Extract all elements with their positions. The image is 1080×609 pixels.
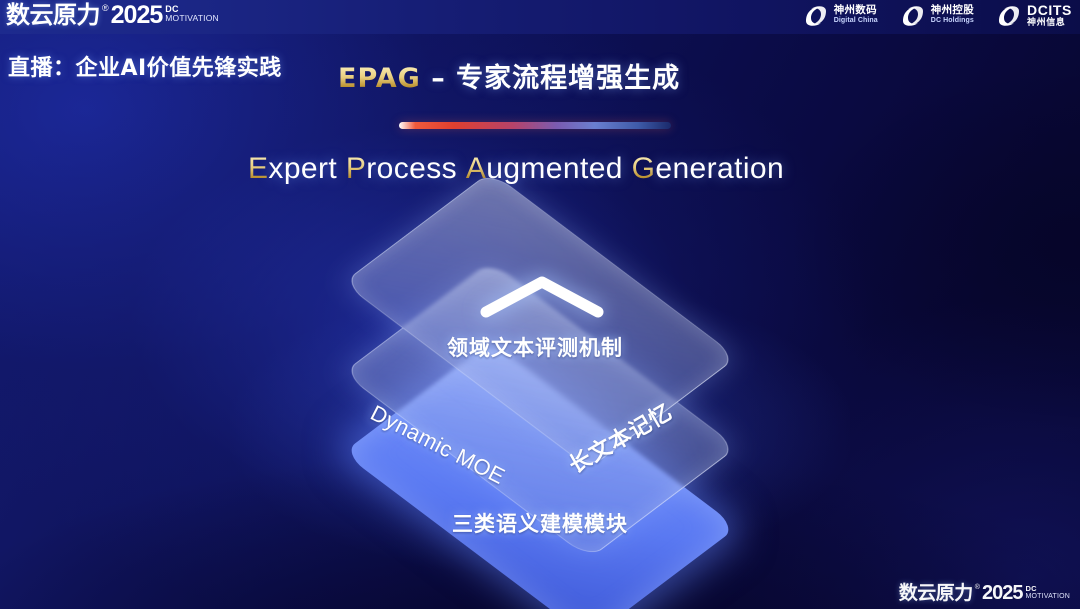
page-title: EPAG – 专家流程增强生成 bbox=[338, 56, 680, 95]
swoosh-logo-icon bbox=[803, 4, 829, 28]
partner-logo-dcits: DCITS 神州信息 bbox=[996, 3, 1072, 28]
partner-label: DCITS 神州信息 bbox=[1027, 3, 1072, 28]
footer-brand-watermark: 数云原力 ® 2025 DC MOTIVATION bbox=[899, 583, 1070, 604]
stack-layer-top-label: 领域文本评测机制 bbox=[447, 332, 623, 362]
partner-label: 神州数码 Digital China bbox=[834, 5, 878, 26]
subtitle-initial-a: A bbox=[466, 152, 486, 185]
title-acronym: EPAG bbox=[338, 63, 421, 94]
page-subtitle: Expert Process Augmented Generation bbox=[248, 152, 784, 186]
live-stream-title: 直播：企业AI价值先锋实践 bbox=[8, 50, 282, 82]
partner-logo-dc-holdings: 神州控股 DC Holdings bbox=[900, 4, 974, 28]
partner-logo-digital-china: 神州数码 Digital China bbox=[803, 4, 878, 28]
footer-brand-tagline: DC MOTIVATION bbox=[1025, 583, 1070, 601]
footer-brand-name-cn: 数云原力 bbox=[899, 583, 973, 604]
gradient-divider bbox=[399, 122, 671, 129]
footer-brand-year: 2025 bbox=[982, 583, 1023, 604]
brand-tagline-line2: MOTIVATION bbox=[165, 14, 219, 23]
partner-name-en: DCITS bbox=[1027, 3, 1072, 17]
brand-registered-mark: ® bbox=[102, 2, 109, 14]
partner-name-en: DC Holdings bbox=[931, 16, 974, 26]
partner-name-cn: 神州信息 bbox=[1027, 18, 1072, 28]
partner-logo-group: 神州数码 Digital China 神州控股 DC Holdings bbox=[803, 3, 1072, 28]
stack-layer-bottom-label: 三类语义建模模块 bbox=[452, 508, 628, 538]
subtitle-word-expert: xpert bbox=[268, 152, 337, 185]
subtitle-initial-g: G bbox=[632, 152, 656, 185]
brand-name-cn: 数云原力 bbox=[6, 2, 100, 28]
partner-name-en: Digital China bbox=[834, 16, 878, 26]
title-separator: – bbox=[431, 63, 446, 94]
subtitle-word-process: rocess bbox=[366, 152, 457, 185]
partner-label: 神州控股 DC Holdings bbox=[931, 5, 974, 26]
swoosh-logo-icon bbox=[900, 4, 926, 28]
brand-year: 2025 bbox=[111, 2, 163, 28]
chevron-up-icon bbox=[478, 272, 606, 320]
swoosh-logo-icon bbox=[996, 4, 1022, 28]
slide-canvas: 数云原力 ® 2025 DC MOTIVATION 直播：企业AI价值先锋实践 … bbox=[0, 0, 1080, 609]
footer-brand-tagline-line1: DC bbox=[1025, 585, 1070, 593]
title-chinese: 专家流程增强生成 bbox=[456, 63, 680, 94]
subtitle-initial-e: E bbox=[248, 152, 268, 185]
partner-name-cn: 神州数码 bbox=[834, 5, 878, 15]
footer-brand-registered-mark: ® bbox=[975, 583, 980, 592]
footer-brand-tagline-line2: MOTIVATION bbox=[1025, 593, 1070, 601]
brand-tagline: DC MOTIVATION bbox=[165, 2, 219, 23]
subtitle-word-generation: eneration bbox=[655, 152, 784, 185]
subtitle-word-augmented: ugmented bbox=[486, 152, 623, 185]
subtitle-initial-p: P bbox=[346, 152, 366, 185]
brand-lockup: 数云原力 ® 2025 DC MOTIVATION bbox=[6, 2, 219, 28]
partner-name-cn: 神州控股 bbox=[931, 5, 974, 15]
